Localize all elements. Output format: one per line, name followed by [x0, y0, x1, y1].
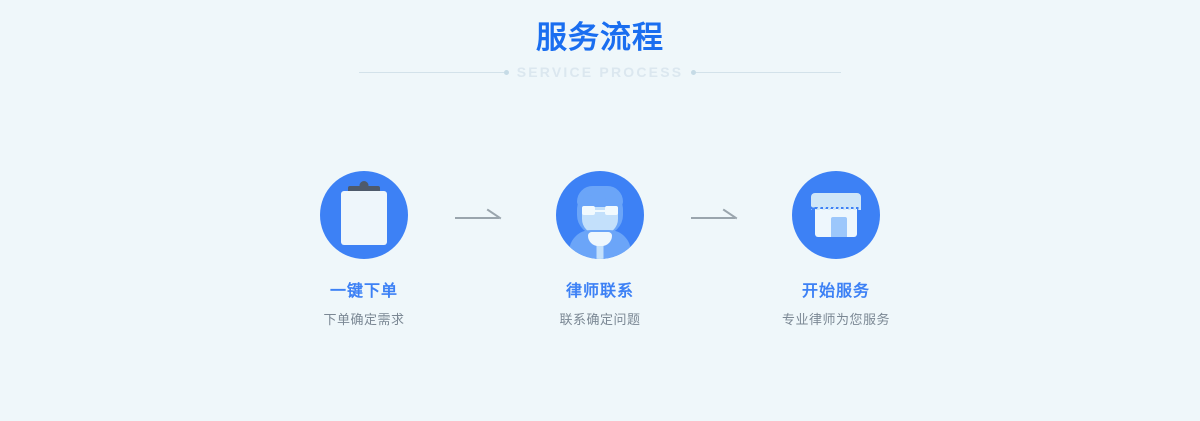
section-header: 服务流程 SERVICE PROCESS	[0, 18, 1200, 80]
step-icon-circle	[792, 171, 880, 259]
lawyer-avatar-icon	[556, 171, 644, 259]
divider-right-dot	[691, 70, 696, 75]
step-item-lawyer-contact[interactable]: 律师联系 联系确定问题	[513, 171, 687, 329]
divider-left-dot	[504, 70, 509, 75]
step-title: 一键下单	[330, 282, 398, 302]
avatar-lens-right	[605, 206, 618, 215]
arrow-right-icon	[451, 171, 513, 259]
avatar-lens-left	[582, 206, 595, 215]
step-item-order[interactable]: 一键下单 下单确定需求	[277, 171, 451, 329]
avatar-glasses	[582, 206, 618, 216]
step-description: 联系确定问题	[559, 311, 640, 329]
divider-left	[359, 72, 507, 73]
step-icon-circle	[556, 171, 644, 259]
subtitle-row: SERVICE PROCESS	[0, 64, 1200, 80]
step-title: 律师联系	[566, 282, 634, 302]
arrow-right-icon	[687, 171, 749, 259]
avatar-glasses-bridge	[595, 210, 605, 212]
service-process-steps: 一键下单 下单确定需求 律师联系	[0, 171, 1200, 329]
step-title: 开始服务	[802, 282, 870, 302]
divider-right	[693, 72, 841, 73]
step-item-start-service[interactable]: 开始服务 专业律师为您服务	[749, 171, 923, 329]
storefront-door	[831, 217, 847, 237]
step-icon-circle	[320, 171, 408, 259]
page-title: 服务流程	[0, 18, 1200, 58]
clipboard-body	[341, 191, 387, 245]
page-subtitle: SERVICE PROCESS	[517, 64, 684, 80]
step-description: 专业律师为您服务	[782, 311, 890, 329]
storefront-icon	[811, 193, 861, 207]
step-description: 下单确定需求	[323, 311, 404, 329]
